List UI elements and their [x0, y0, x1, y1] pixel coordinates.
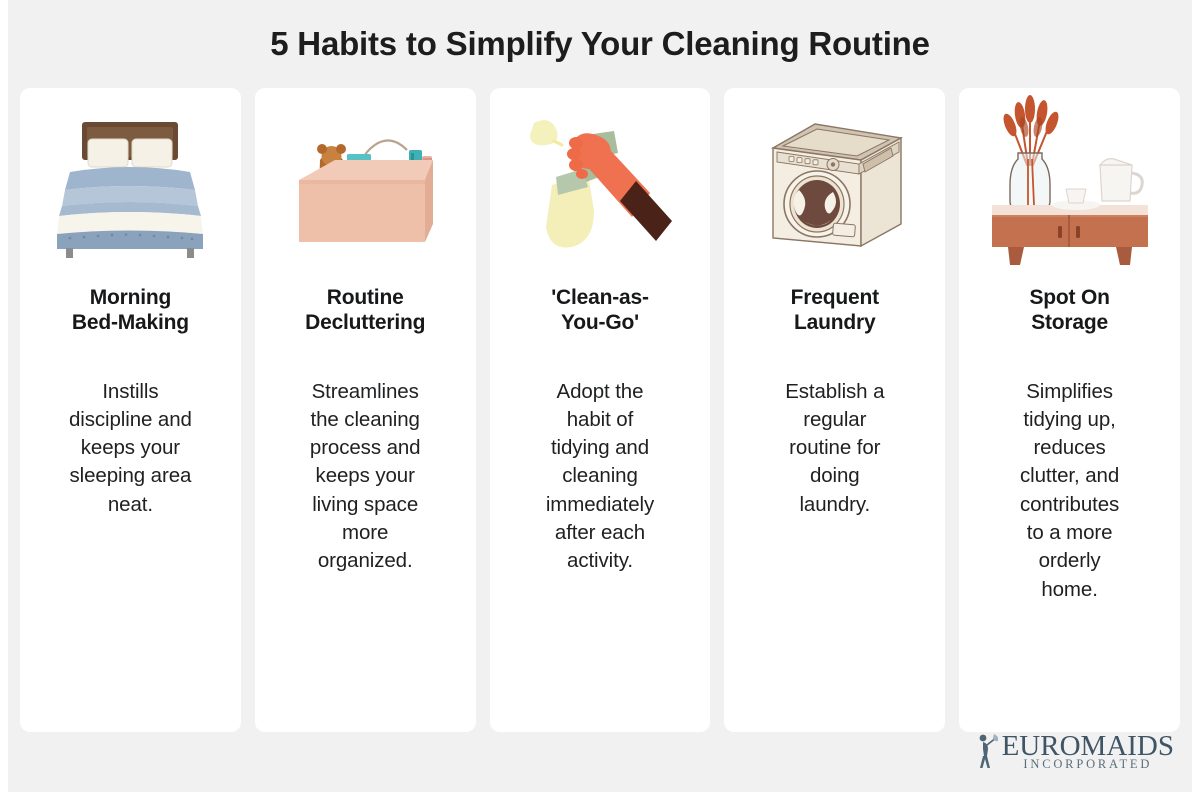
footer-branding: EUROMAIDS INCORPORATED — [972, 730, 1174, 776]
card-title: Routine Decluttering — [305, 286, 425, 336]
spray-bottle-hand-icon — [510, 107, 690, 267]
card-title: Spot On Storage — [1029, 286, 1109, 336]
infographic-poster: 5 Habits to Simplify Your Cleaning Routi… — [0, 0, 1200, 792]
card-body: Instills discipline and keeps your sleep… — [69, 378, 192, 519]
habit-card-frequent-laundry[interactable]: Frequent Laundry Establish a regular rou… — [724, 88, 945, 732]
storage-box-illustration — [269, 102, 462, 272]
habit-cards-row: Morning Bed-Making Instills discipline a… — [0, 88, 1200, 792]
card-title: Morning Bed-Making — [72, 286, 189, 336]
storage-cabinet-illustration — [973, 102, 1166, 272]
washing-machine-illustration — [738, 102, 931, 272]
bed-illustration — [34, 102, 227, 272]
card-body: Simplifies tidying up, reduces clutter, … — [1020, 378, 1119, 604]
storage-box-icon — [275, 112, 455, 262]
spray-bottle-illustration — [504, 102, 697, 272]
card-body: Adopt the habit of tidying and cleaning … — [546, 378, 654, 576]
habit-card-morning-bed-making[interactable]: Morning Bed-Making Instills discipline a… — [20, 88, 241, 732]
card-title: 'Clean-as- You-Go' — [551, 286, 649, 336]
card-title: Frequent Laundry — [791, 286, 879, 336]
title-bar: 5 Habits to Simplify Your Cleaning Routi… — [0, 0, 1200, 88]
habit-card-routine-decluttering[interactable]: Routine Decluttering Streamlines the cle… — [255, 88, 476, 732]
storage-cabinet-icon — [980, 93, 1160, 268]
logo-sub-text: INCORPORATED — [1023, 758, 1152, 771]
logo-wordmark: EUROMAIDS INCORPORATED — [1002, 732, 1174, 771]
habit-card-clean-as-you-go[interactable]: 'Clean-as- You-Go' Adopt the habit of ti… — [490, 88, 711, 732]
page-title: 5 Habits to Simplify Your Cleaning Routi… — [270, 25, 930, 63]
card-body: Streamlines the cleaning process and kee… — [310, 378, 421, 576]
card-body: Establish a regular routine for doing la… — [785, 378, 884, 519]
habit-card-spot-on-storage[interactable]: Spot On Storage Simplifies tidying up, r… — [959, 88, 1180, 732]
washing-machine-icon — [755, 112, 915, 262]
mop-person-icon — [972, 732, 1000, 775]
bed-icon — [40, 112, 220, 262]
euromaids-logo[interactable]: EUROMAIDS INCORPORATED — [972, 732, 1174, 775]
